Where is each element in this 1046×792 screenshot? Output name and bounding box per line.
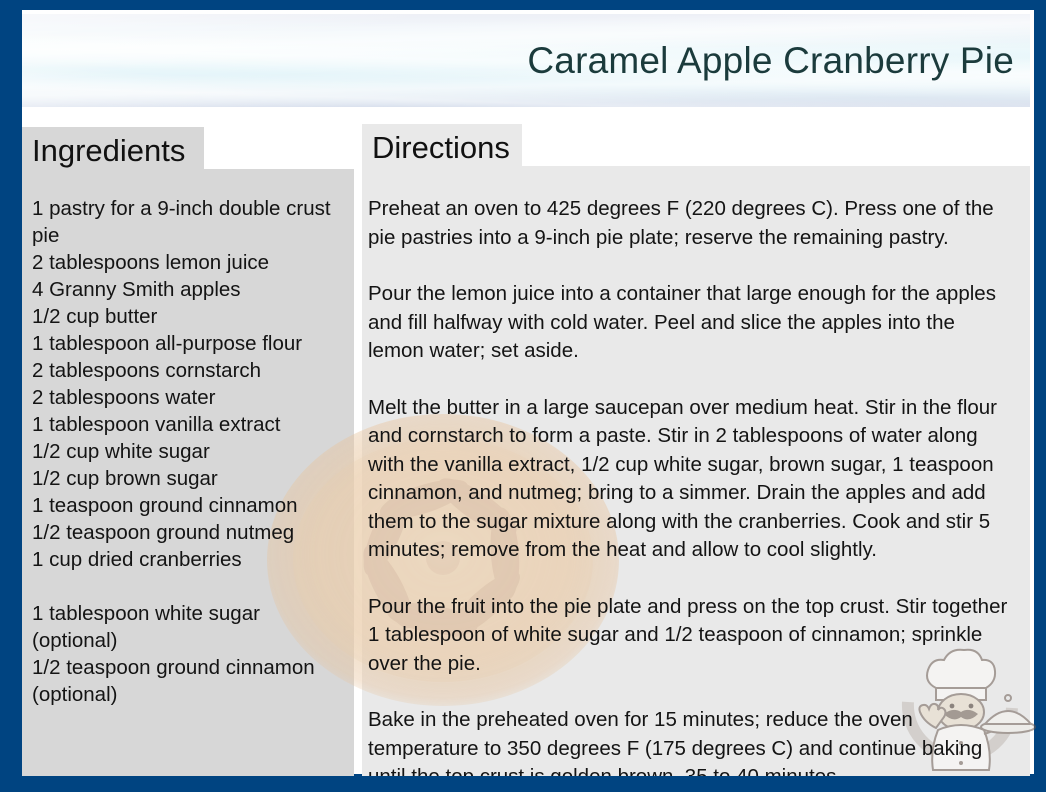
ingredient-item: 1 pastry for a 9-inch double crust pie [32,195,342,249]
ingredient-item: 1/2 cup butter [32,303,342,330]
ingredient-item: 1 teaspoon ground cinnamon [32,492,342,519]
ingredient-item: 2 tablespoons lemon juice [32,249,342,276]
ingredient-item: 1/2 teaspoon ground cinnamon (optional) [32,654,342,708]
frame-border-left [0,0,22,792]
direction-step: Bake in the preheated oven for 15 minute… [368,706,1012,776]
recipe-card: Caramel Apple Cranberry Pie Ingredients … [0,0,1046,792]
recipe-title: Caramel Apple Cranberry Pie [527,40,1014,82]
ingredient-item: 2 tablespoons cornstarch [32,357,342,384]
ingredients-list: 1 pastry for a 9-inch double crust pie2 … [32,195,342,708]
directions-steps: Preheat an oven to 425 degrees F (220 de… [368,195,1012,776]
title-banner: Caramel Apple Cranberry Pie [22,14,1030,107]
ingredient-item: 2 tablespoons water [32,384,342,411]
ingredient-item: 4 Granny Smith apples [32,276,342,303]
direction-step: Pour the fruit into the pie plate and pr… [368,593,1012,679]
ingredients-panel: 1 pastry for a 9-inch double crust pie2 … [22,169,354,776]
ingredient-item: 1 tablespoon white sugar (optional) [32,600,342,654]
direction-step: Melt the butter in a large saucepan over… [368,394,1012,565]
ingredient-item: 1/2 teaspoon ground nutmeg [32,519,342,546]
frame-border-right [1034,0,1046,792]
ingredient-item: 1/2 cup white sugar [32,438,342,465]
frame-border-top [0,0,1046,10]
ingredient-item: 1 tablespoon all-purpose flour [32,330,342,357]
ingredient-item: 1/2 cup brown sugar [32,465,342,492]
ingredient-item: 1 cup dried cranberries [32,546,342,573]
frame-border-bottom [0,774,1046,792]
direction-step: Pour the lemon juice into a container th… [368,280,1012,366]
directions-panel: Preheat an oven to 425 degrees F (220 de… [362,166,1030,776]
ingredient-item: 1 tablespoon vanilla extract [32,411,342,438]
directions-heading: Directions [362,124,522,171]
ingredients-spacer [32,573,342,600]
ingredients-heading: Ingredients [22,127,204,174]
direction-step: Preheat an oven to 425 degrees F (220 de… [368,195,1012,252]
